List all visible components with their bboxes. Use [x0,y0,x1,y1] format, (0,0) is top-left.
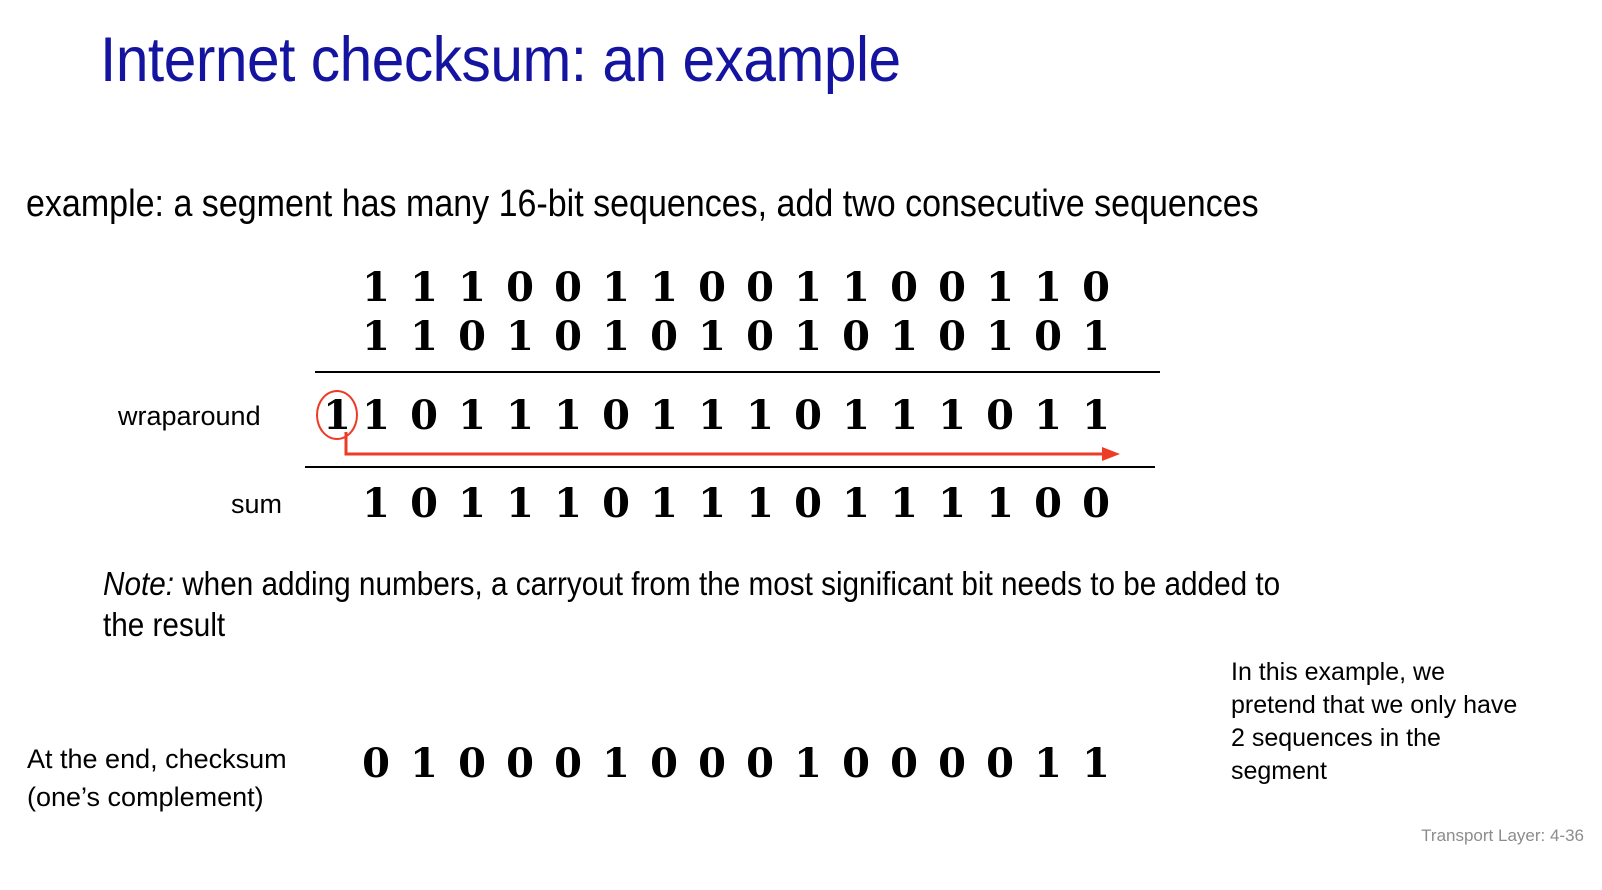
binary-digit: 1 [736,480,784,528]
binary-digit: 1 [1072,392,1120,440]
binary-digit: 0 [880,740,928,788]
binary-digit: 1 [688,392,736,440]
binary-digit: 1 [880,313,928,361]
binary-digit: 0 [592,392,640,440]
checksum-caption: At the end, checksum (one’s complement) [27,740,347,816]
binary-digit: 0 [1024,480,1072,528]
binary-digit: 1 [832,480,880,528]
binary-digit: 1 [784,264,832,312]
binary-digit: 1 [1024,740,1072,788]
binary-digit: 0 [736,740,784,788]
binary-operand-1-row: 1110011001100110 [352,264,1120,312]
binary-digit: 1 [1072,313,1120,361]
note-text: when adding numbers, a carryout from the… [103,565,1280,643]
binary-digit: 1 [544,392,592,440]
binary-digit: 0 [1072,264,1120,312]
binary-digit: 0 [976,392,1024,440]
binary-wraparound-row: 1011101110111011 [352,392,1120,440]
binary-digit: 1 [880,480,928,528]
binary-digit: 1 [832,392,880,440]
binary-digit: 1 [400,264,448,312]
binary-digit: 0 [544,740,592,788]
binary-digit: 0 [784,480,832,528]
binary-digit: 0 [880,264,928,312]
binary-digit: 1 [352,480,400,528]
binary-digit: 0 [640,313,688,361]
binary-digit: 1 [928,480,976,528]
binary-digit: 1 [688,480,736,528]
binary-digit: 0 [832,313,880,361]
example-description: example: a segment has many 16-bit seque… [26,180,1259,228]
binary-digit: 1 [400,740,448,788]
binary-digit: 0 [928,313,976,361]
binary-digit: 1 [784,313,832,361]
binary-digit: 1 [640,264,688,312]
binary-digit: 0 [448,740,496,788]
binary-digit: 1 [496,313,544,361]
binary-digit: 1 [640,392,688,440]
binary-digit: 0 [832,740,880,788]
checksum-caption-line1: At the end, checksum [27,740,347,778]
binary-digit: 1 [352,392,400,440]
binary-digit: 1 [976,264,1024,312]
binary-digit: 0 [544,264,592,312]
addition-rule-top [315,371,1160,373]
binary-digit: 0 [976,740,1024,788]
binary-digit: 0 [592,480,640,528]
binary-digit: 0 [688,264,736,312]
binary-digit: 1 [448,392,496,440]
binary-digit: 1 [544,480,592,528]
binary-digit: 1 [640,480,688,528]
side-note: In this example, we pretend that we only… [1231,656,1531,788]
slide-canvas: Internet checksum: an example example: a… [0,0,1602,890]
binary-digit: 0 [928,264,976,312]
binary-digit: 0 [1024,313,1072,361]
binary-digit: 0 [496,264,544,312]
binary-digit: 1 [880,392,928,440]
binary-digit: 1 [400,313,448,361]
binary-digit: 0 [736,264,784,312]
binary-digit: 1 [352,313,400,361]
binary-digit: 0 [400,480,448,528]
binary-digit: 1 [592,264,640,312]
binary-digit: 0 [544,313,592,361]
binary-digit: 1 [592,740,640,788]
binary-digit: 1 [448,480,496,528]
checksum-caption-line2: (one’s complement) [27,778,347,816]
binary-digit: 1 [976,313,1024,361]
binary-digit: 1 [496,392,544,440]
binary-digit: 1 [448,264,496,312]
binary-digit: 0 [1072,480,1120,528]
binary-digit: 1 [928,392,976,440]
binary-digit: 1 [1024,392,1072,440]
binary-digit: 1 [736,392,784,440]
binary-digit: 0 [784,392,832,440]
binary-digit: 1 [832,264,880,312]
binary-digit: 1 [1024,264,1072,312]
binary-digit: 0 [352,740,400,788]
footer-slide-number: Transport Layer: 4-36 [1421,825,1584,847]
binary-digit: 1 [1072,740,1120,788]
binary-operand-2-row: 1101010101010101 [352,313,1120,361]
label-sum: sum [231,487,282,521]
binary-digit: 0 [496,740,544,788]
binary-digit: 1 [688,313,736,361]
binary-digit: 0 [688,740,736,788]
binary-digit: 1 [496,480,544,528]
page-title: Internet checksum: an example [100,22,901,98]
binary-digit: 0 [640,740,688,788]
binary-digit: 1 [976,480,1024,528]
binary-digit: 1 [592,313,640,361]
binary-digit: 1 [784,740,832,788]
binary-checksum-row: 0100010001000011 [352,740,1120,788]
binary-digit: 0 [928,740,976,788]
note-paragraph: Note: when adding numbers, a carryout fr… [103,563,1309,645]
addition-rule-bottom [305,466,1155,468]
binary-sum-row: 1011101110111100 [352,480,1120,528]
binary-digit: 0 [400,392,448,440]
note-label: Note: [103,565,174,602]
binary-digit: 1 [352,264,400,312]
label-wraparound: wraparound [118,399,261,433]
binary-digit: 0 [448,313,496,361]
binary-digit: 0 [736,313,784,361]
